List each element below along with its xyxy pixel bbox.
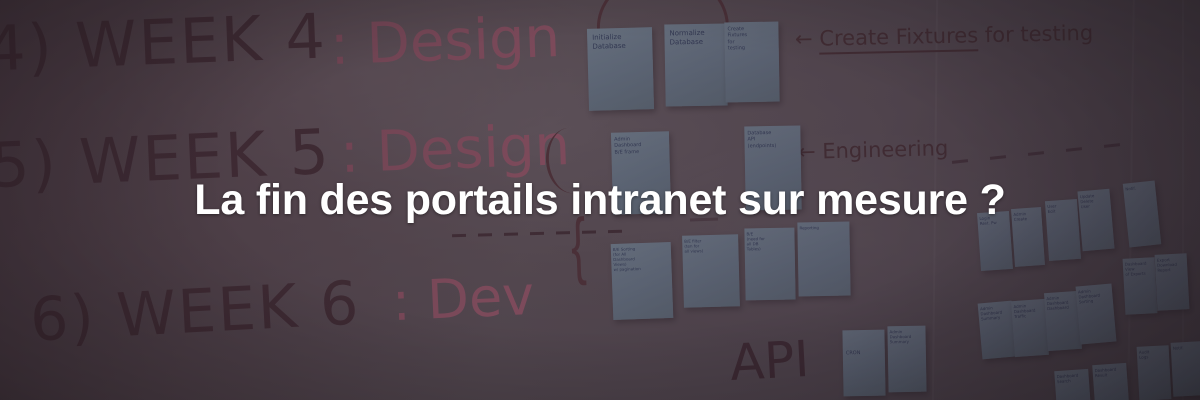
headline-container: La fin des portails intranet sur mesure … xyxy=(0,0,1200,400)
page-title: La fin des portails intranet sur mesure … xyxy=(170,176,1029,225)
hero-banner: 4) WEEK 4 : Design 5) WEEK 5 : Design 6)… xyxy=(0,0,1200,400)
